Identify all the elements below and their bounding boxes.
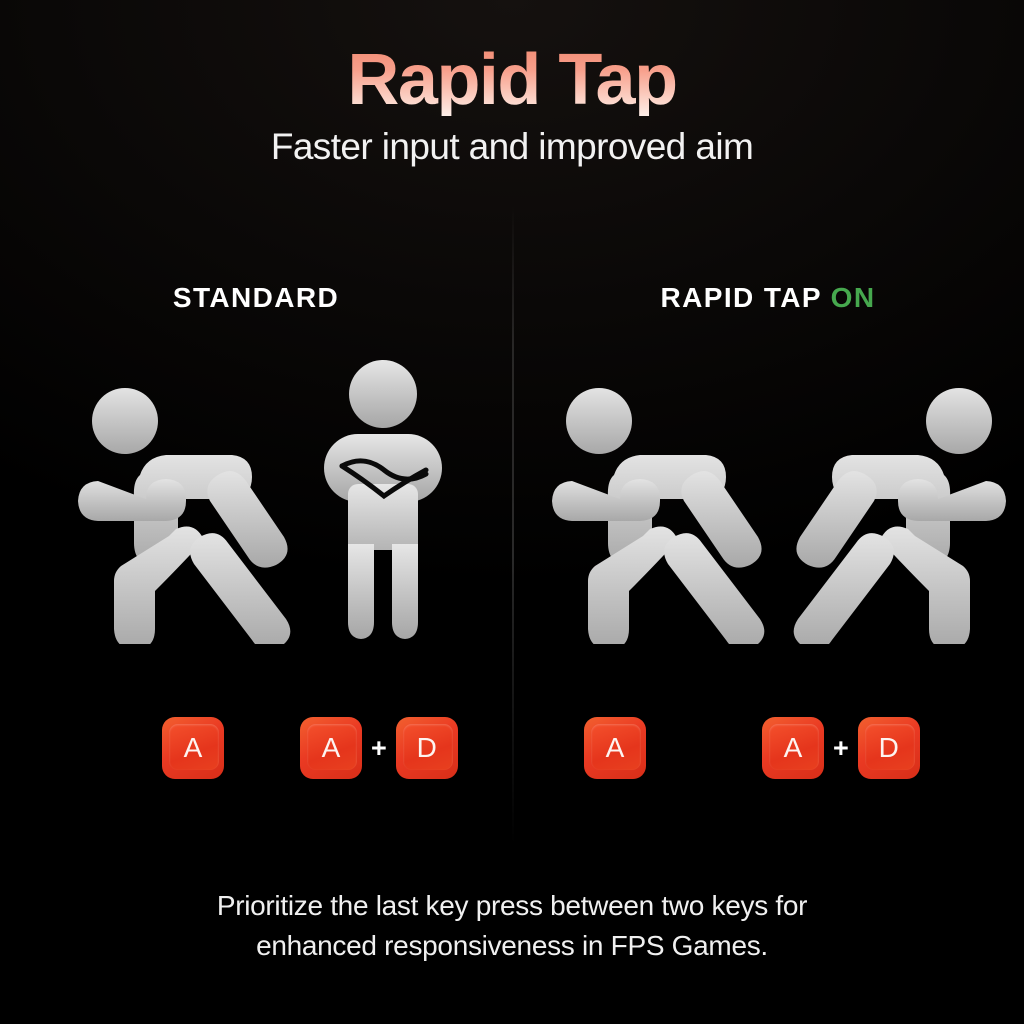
keycap-d[interactable]: D <box>858 717 920 779</box>
panel-standard: STANDARD <box>0 280 512 780</box>
keycap-a-label: A <box>784 734 803 762</box>
panel-standard-figures <box>0 344 512 644</box>
keycap-group-standard-combo: A + D <box>300 716 458 780</box>
keycap-group-standard-single: A <box>162 716 224 780</box>
keycap-a[interactable]: A <box>762 717 824 779</box>
keycap-group-rapid-combo: A + D <box>762 716 920 780</box>
header: Rapid Tap Faster input and improved aim <box>0 0 1024 165</box>
keycap-d[interactable]: D <box>396 717 458 779</box>
running-figure <box>62 379 312 644</box>
keycap-a-label: A <box>184 734 203 762</box>
keycap-a-label: A <box>606 734 625 762</box>
rapid-tap-infographic: Rapid Tap Faster input and improved aim … <box>0 0 1024 1024</box>
keycap-a[interactable]: A <box>162 717 224 779</box>
page-subtitle: Faster input and improved aim <box>0 128 1024 165</box>
panel-rapid-tap-label-text: RAPID TAP <box>661 282 822 313</box>
standing-figure <box>318 354 448 644</box>
keycap-a[interactable]: A <box>300 717 362 779</box>
panel-rapid-tap-label: RAPID TAP ON <box>512 280 1024 316</box>
panel-standard-label-text: STANDARD <box>173 282 339 313</box>
keycap-d-label: D <box>879 734 899 762</box>
keycap-a-label: A <box>322 734 341 762</box>
page-title: Rapid Tap <box>0 44 1024 116</box>
panel-standard-label: STANDARD <box>0 280 512 316</box>
keycap-a[interactable]: A <box>584 717 646 779</box>
footer-caption: Prioritize the last key press between tw… <box>0 886 1024 966</box>
footer-line-2: enhanced responsiveness in FPS Games. <box>0 926 1024 966</box>
keycap-d-label: D <box>417 734 437 762</box>
footer-line-1: Prioritize the last key press between tw… <box>0 886 1024 926</box>
panel-rapid-tap-figures <box>512 344 1024 644</box>
plus-icon: + <box>824 735 858 762</box>
panel-rapid-tap: RAPID TAP ON <box>512 280 1024 780</box>
running-figure <box>536 379 786 644</box>
plus-icon: + <box>362 735 396 762</box>
keycap-group-rapid-single: A <box>584 716 646 780</box>
status-badge-on: ON <box>831 282 876 313</box>
running-figure-mirrored <box>772 379 1022 644</box>
